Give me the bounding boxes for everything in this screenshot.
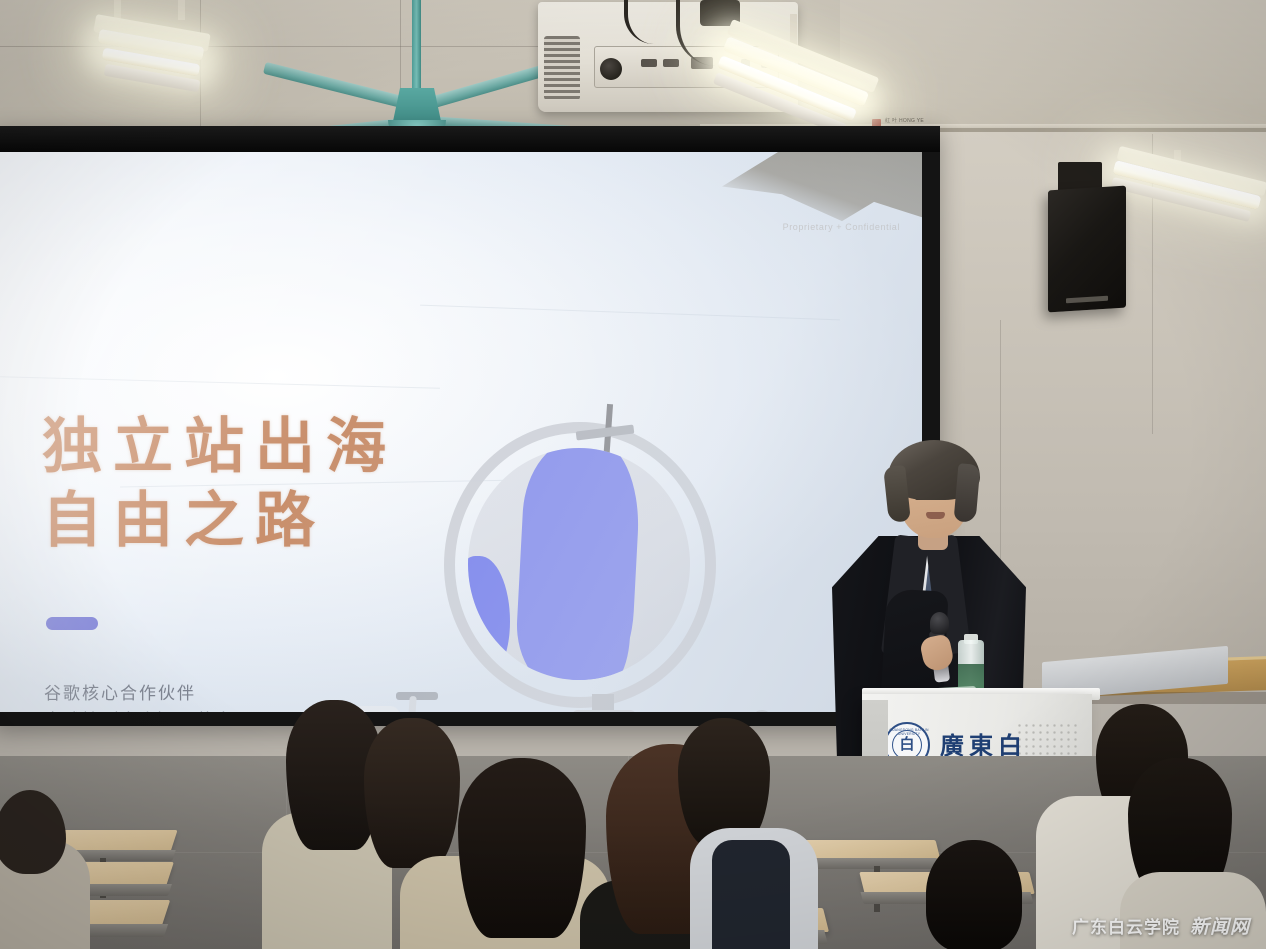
screen-crease — [0, 376, 440, 389]
slide-title: 独立站出海 自由之路 — [42, 410, 397, 558]
wall-speaker — [1048, 186, 1126, 313]
speaker-brand-icon — [1066, 296, 1108, 304]
watermark-outlet: 新闻网 — [1190, 912, 1250, 939]
photo-scene: 紅 叶 HONG YE — [0, 0, 1266, 949]
projector-vent — [544, 36, 580, 100]
hanger-icon — [752, 710, 772, 712]
slide-subtitle-line-1: 谷歌核心合作伙伴 — [44, 680, 253, 707]
audience-body — [712, 840, 790, 949]
presenter-hair-side — [954, 463, 981, 523]
audience-head — [926, 840, 1022, 949]
screen-crease — [420, 305, 840, 321]
fan-rod — [412, 0, 421, 92]
slide-subtitle: 谷歌核心合作伙伴 全球搜（中山）运营中心 咪咚信息技术有限公司 — [44, 680, 253, 712]
watermark-institution: 广东白云学院 — [1072, 913, 1180, 938]
slide-confidential-note: Proprietary + Confidential — [783, 222, 900, 232]
projection-screen-top-bar — [0, 126, 940, 152]
audience-head — [458, 758, 586, 938]
projector-port — [663, 59, 679, 67]
presenter-mouth — [926, 512, 945, 519]
fluorescent-light-right — [1116, 150, 1266, 240]
slide-subtitle-line-2: 全球搜（中山）运营中心 — [44, 707, 253, 712]
projector-lens-icon — [600, 58, 622, 80]
slide-accent-bar — [46, 617, 98, 630]
fluorescent-light-center — [724, 14, 894, 144]
globe-landmass — [560, 568, 630, 680]
audience-head — [364, 718, 460, 868]
lamp-hanger — [178, 0, 185, 20]
seal-glyph: 白 — [896, 734, 918, 756]
audience-head — [678, 718, 770, 846]
watermark: 广东白云学院 新闻网 — [1072, 912, 1250, 939]
projection-screen: Proprietary + Confidential — [0, 152, 922, 712]
screen-corner-shadow — [722, 152, 922, 248]
slide-title-line-1: 独立站出海 — [42, 410, 397, 484]
slide-title-line-2: 自由之路 — [42, 484, 397, 558]
microphone-icon — [930, 612, 949, 634]
fluorescent-light-left — [92, 0, 212, 120]
globe-illustration — [428, 412, 728, 712]
wall-trim — [940, 128, 1266, 132]
globe-sphere — [468, 448, 690, 680]
cart-handle-grip — [396, 692, 438, 700]
projector-port — [641, 59, 657, 67]
